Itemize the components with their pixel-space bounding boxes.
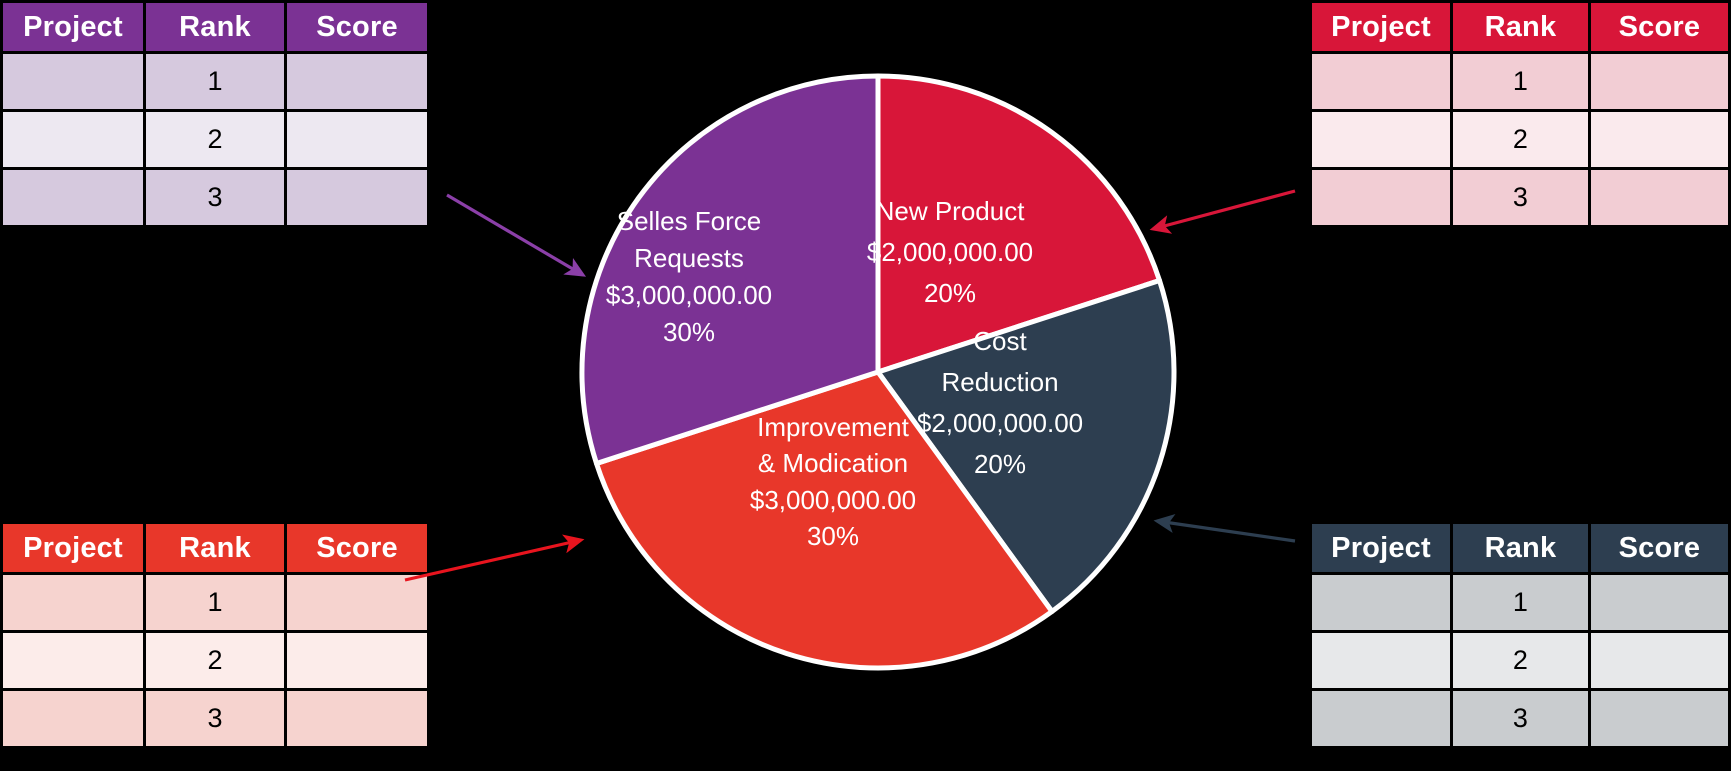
cell-rank[interactable]: 3 — [1453, 170, 1588, 225]
table-row[interactable]: 3 — [1312, 691, 1728, 746]
column-header-score[interactable]: Score — [287, 524, 427, 572]
table-header-row: Project Rank Score — [3, 3, 427, 51]
cell-project[interactable] — [3, 54, 143, 109]
cell-rank[interactable]: 1 — [1453, 54, 1588, 109]
slice-label-name-line1: Selles Force — [617, 206, 762, 236]
arrow-purple-to-selles-force-requests — [447, 195, 583, 275]
cell-score[interactable] — [1591, 54, 1728, 109]
cell-rank[interactable]: 2 — [146, 112, 284, 167]
cell-rank[interactable]: 3 — [146, 691, 284, 746]
pie-slice-group — [582, 76, 1174, 668]
slice-label-percent: 30% — [807, 521, 859, 551]
slice-label-name-line2: & Modication — [758, 448, 908, 478]
cell-score[interactable] — [1591, 575, 1728, 630]
slice-label-name-line1: Improvement — [757, 412, 909, 442]
cell-project[interactable] — [3, 170, 143, 225]
table-row[interactable]: 1 — [3, 54, 427, 109]
slice-label-name-line2: Requests — [634, 243, 744, 273]
cell-project[interactable] — [1312, 112, 1450, 167]
slice-label-name-line1: Cost — [973, 326, 1027, 356]
cell-score[interactable] — [287, 633, 427, 688]
cell-score[interactable] — [1591, 691, 1728, 746]
cell-score[interactable] — [1591, 170, 1728, 225]
cell-rank[interactable]: 1 — [146, 54, 284, 109]
pie-chart-svg: New Product $2,000,000.00 20% Cost Reduc… — [578, 72, 1178, 672]
rank-table-top-left[interactable]: Project Rank Score 1 2 3 — [0, 0, 430, 228]
rank-table-top-right[interactable]: Project Rank Score 1 2 3 — [1309, 0, 1731, 228]
table-row[interactable]: 2 — [1312, 112, 1728, 167]
cell-project[interactable] — [1312, 633, 1450, 688]
table-row[interactable]: 3 — [3, 691, 427, 746]
column-header-project[interactable]: Project — [1312, 524, 1450, 572]
column-header-score[interactable]: Score — [1591, 3, 1728, 51]
cell-rank[interactable]: 1 — [1453, 575, 1588, 630]
table-row[interactable]: 1 — [1312, 575, 1728, 630]
table-row[interactable]: 2 — [1312, 633, 1728, 688]
cell-rank[interactable]: 2 — [146, 633, 284, 688]
slice-label-name-line1: New Product — [876, 196, 1026, 226]
cell-project[interactable] — [3, 575, 143, 630]
table-row[interactable]: 1 — [1312, 54, 1728, 109]
table-header-row: Project Rank Score — [1312, 3, 1728, 51]
cell-rank[interactable]: 1 — [146, 575, 284, 630]
table-row[interactable]: 1 — [3, 575, 427, 630]
slice-label-amount: $2,000,000.00 — [867, 237, 1033, 267]
column-header-rank[interactable]: Rank — [1453, 524, 1588, 572]
table-row[interactable]: 2 — [3, 112, 427, 167]
slice-label-percent: 30% — [663, 317, 715, 347]
arrow-orange-to-improvement-modication — [405, 540, 581, 580]
cell-project[interactable] — [1312, 170, 1450, 225]
column-header-project[interactable]: Project — [1312, 3, 1450, 51]
slice-label-name-line2: Reduction — [941, 367, 1058, 397]
slice-label-amount: $3,000,000.00 — [606, 280, 772, 310]
cell-score[interactable] — [287, 575, 427, 630]
table-row[interactable]: 3 — [1312, 170, 1728, 225]
column-header-rank[interactable]: Rank — [1453, 3, 1588, 51]
cell-score[interactable] — [287, 54, 427, 109]
table-row[interactable]: 2 — [3, 633, 427, 688]
canvas: Project Rank Score 1 2 3 — [0, 0, 1731, 771]
slice-label-amount: $3,000,000.00 — [750, 485, 916, 515]
cell-rank[interactable]: 3 — [1453, 691, 1588, 746]
column-header-rank[interactable]: Rank — [146, 3, 284, 51]
cell-project[interactable] — [1312, 54, 1450, 109]
cell-score[interactable] — [1591, 112, 1728, 167]
column-header-project[interactable]: Project — [3, 524, 143, 572]
column-header-score[interactable]: Score — [1591, 524, 1728, 572]
table-header-row: Project Rank Score — [3, 524, 427, 572]
column-header-project[interactable]: Project — [3, 3, 143, 51]
pie-chart[interactable]: New Product $2,000,000.00 20% Cost Reduc… — [578, 72, 1178, 672]
cell-project[interactable] — [3, 633, 143, 688]
slice-label-percent: 20% — [924, 278, 976, 308]
cell-rank[interactable]: 3 — [146, 170, 284, 225]
rank-table-bottom-left[interactable]: Project Rank Score 1 2 3 — [0, 521, 430, 749]
rank-table-bottom-right[interactable]: Project Rank Score 1 2 3 — [1309, 521, 1731, 749]
cell-rank[interactable]: 2 — [1453, 112, 1588, 167]
table-header-row: Project Rank Score — [1312, 524, 1728, 572]
cell-score[interactable] — [287, 691, 427, 746]
cell-score[interactable] — [287, 112, 427, 167]
cell-rank[interactable]: 2 — [1453, 633, 1588, 688]
cell-project[interactable] — [3, 112, 143, 167]
cell-project[interactable] — [1312, 575, 1450, 630]
slice-label-amount: $2,000,000.00 — [917, 408, 1083, 438]
slice-label-percent: 20% — [974, 449, 1026, 479]
cell-project[interactable] — [3, 691, 143, 746]
table-row[interactable]: 3 — [3, 170, 427, 225]
column-header-score[interactable]: Score — [287, 3, 427, 51]
column-header-rank[interactable]: Rank — [146, 524, 284, 572]
cell-project[interactable] — [1312, 691, 1450, 746]
cell-score[interactable] — [287, 170, 427, 225]
cell-score[interactable] — [1591, 633, 1728, 688]
